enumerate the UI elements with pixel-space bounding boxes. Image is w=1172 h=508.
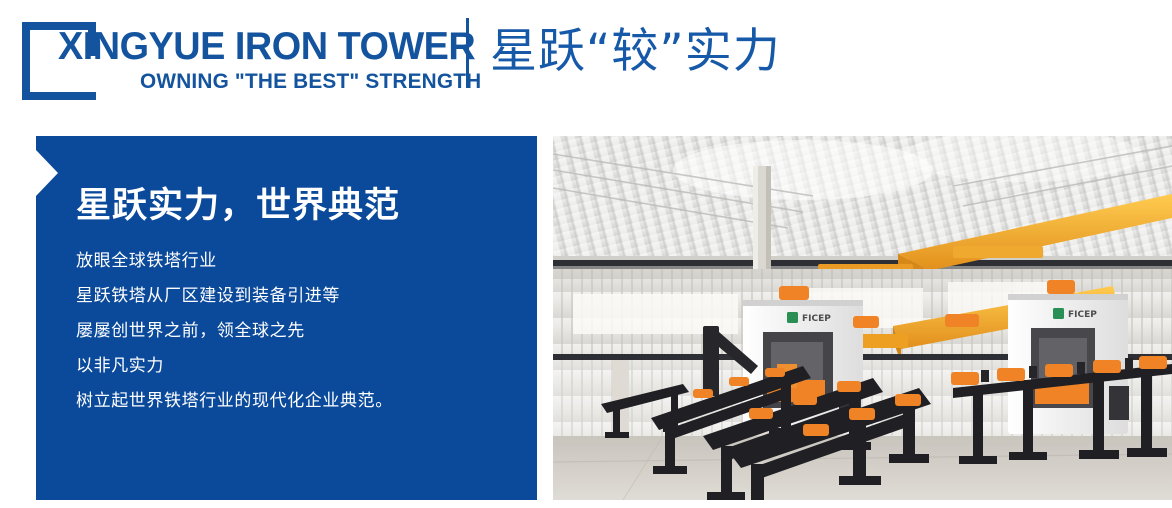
panel-content: 星跃实力，世界典范 放眼全球铁塔行业 星跃铁塔从厂区建设到装备引进等 屡屡创世界… (76, 184, 516, 419)
brand-lockup[interactable]: XINGYUE IRON TOWER OWNING "THE BEST" STR… (18, 8, 458, 104)
panel-line: 屡屡创世界之前，领全球之先 (76, 314, 516, 349)
panel-title: 星跃实力，世界典范 (76, 184, 516, 228)
brand-name: XINGYUE IRON TOWER (58, 26, 475, 68)
brand-text-block: XINGYUE IRON TOWER OWNING "THE BEST" STR… (40, 18, 460, 104)
panel-line-list: 放眼全球铁塔行业 星跃铁塔从厂区建设到装备引进等 屡屡创世界之前，领全球之先 以… (76, 244, 516, 419)
panel-line: 树立起世界铁塔行业的现代化企业典范。 (76, 384, 516, 419)
chinese-headline: 星跃“较”实力 (490, 16, 781, 88)
page-header: XINGYUE IRON TOWER OWNING "THE BEST" STR… (0, 0, 1172, 112)
brand-tagline: OWNING "THE BEST" STRENGTH (140, 70, 481, 94)
feature-panel: 星跃实力，世界典范 放眼全球铁塔行业 星跃铁塔从厂区建设到装备引进等 屡屡创世界… (36, 136, 537, 500)
panel-line: 放眼全球铁塔行业 (76, 244, 516, 279)
factory-photo: FICEP FICEP (553, 136, 1172, 500)
header-divider (466, 18, 469, 88)
panel-line: 星跃铁塔从厂区建设到装备引进等 (76, 279, 516, 314)
promo-banner-page: XINGYUE IRON TOWER OWNING "THE BEST" STR… (0, 0, 1172, 508)
panel-line: 以非凡实力 (76, 349, 516, 384)
